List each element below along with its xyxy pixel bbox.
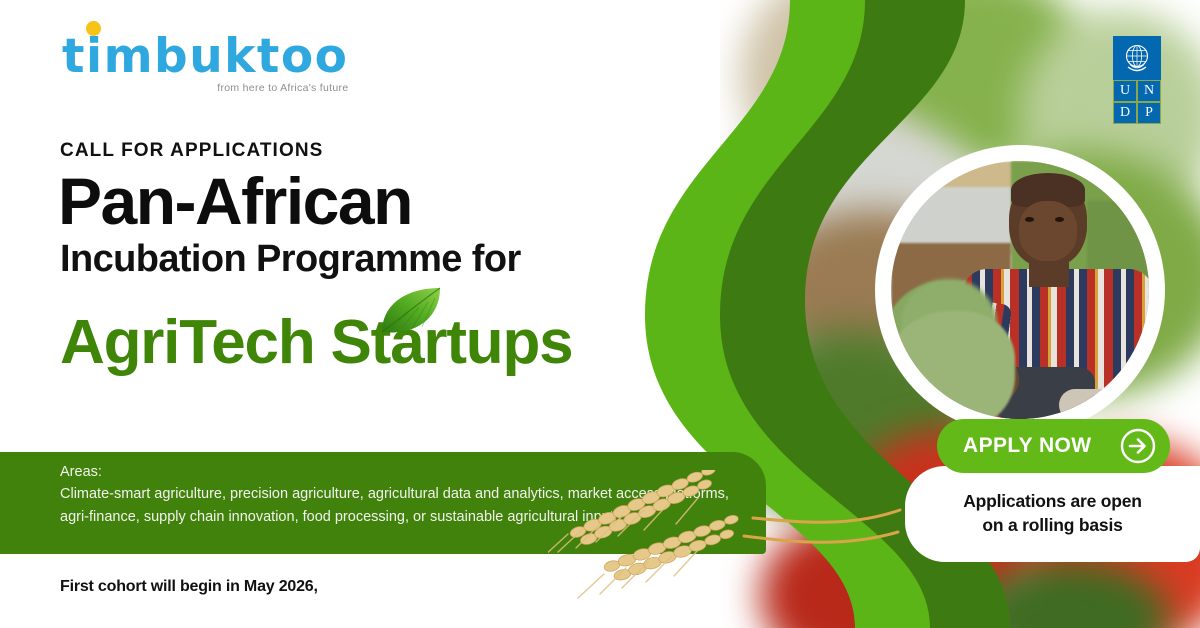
undp-letter-n: N: [1137, 80, 1161, 102]
leaf-icon: [378, 286, 444, 338]
undp-letter-u: U: [1113, 80, 1137, 102]
logo-wordmark: timbuktoo: [62, 33, 348, 80]
apply-now-label: APPLY NOW: [963, 434, 1091, 458]
headline-line-2: Incubation Programme for: [60, 240, 521, 278]
rolling-basis-text: Applications are open on a rolling basis: [963, 490, 1142, 537]
undp-letter-d: D: [1113, 102, 1137, 124]
un-emblem-icon: [1113, 36, 1161, 80]
rolling-basis-line-1: Applications are open: [963, 491, 1142, 511]
arrow-right-circle-icon: [1120, 428, 1156, 464]
logo-dot-icon: [86, 21, 101, 36]
portrait-ring: [875, 145, 1165, 435]
kicker-text: CALL FOR APPLICATIONS: [60, 140, 323, 162]
timbuktoo-logo: timbuktoo from here to Africa's future: [62, 33, 348, 94]
undp-letter-p: P: [1137, 102, 1161, 124]
headline-line-3: AgriTech Startups: [60, 312, 572, 374]
headline-line-1: Pan-African: [58, 168, 412, 234]
rolling-basis-line-2: on a rolling basis: [982, 515, 1122, 535]
rolling-basis-card: Applications are open on a rolling basis: [905, 466, 1200, 562]
farmer-portrait-image: [891, 161, 1149, 419]
undp-logo: U N D P: [1113, 36, 1161, 124]
cohort-note: First cohort will begin in May 2026,: [60, 578, 318, 596]
wheat-stalks-image: [548, 470, 908, 628]
apply-now-button[interactable]: APPLY NOW: [937, 419, 1170, 473]
promo-banner: timbuktoo from here to Africa's future U…: [0, 0, 1200, 628]
